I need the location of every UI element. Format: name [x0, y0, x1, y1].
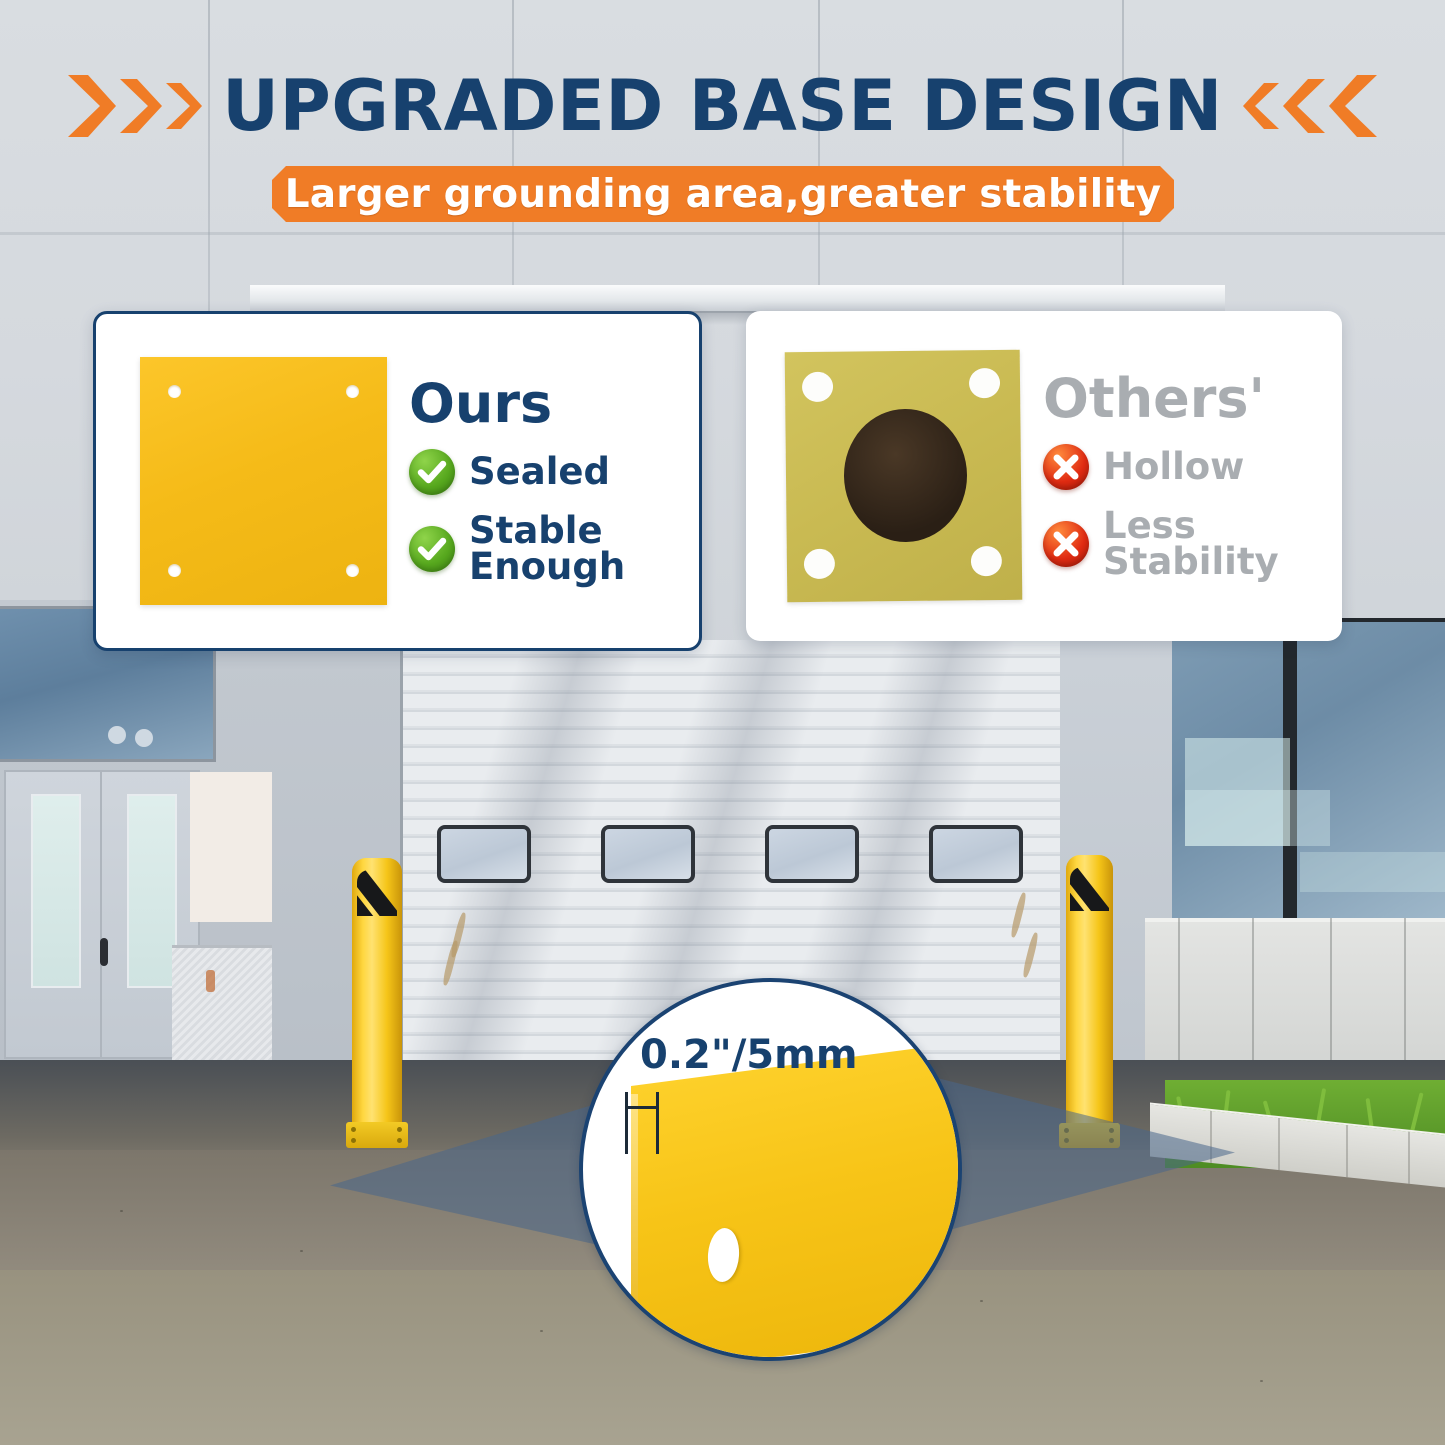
right-chevron-group	[1241, 73, 1379, 139]
ours-feature-2-label: Stable Enough	[469, 513, 625, 586]
ground-speck	[540, 1330, 543, 1332]
left-chevron-group	[66, 73, 204, 139]
ground-speck	[120, 1210, 123, 1212]
bolt-hole	[168, 385, 181, 398]
glass-reflection	[1185, 790, 1330, 846]
others-title: Others'	[1043, 372, 1342, 426]
door-lintel	[250, 285, 1225, 313]
bolt-hole	[966, 365, 1004, 402]
exterior-lamp-icon	[108, 726, 126, 744]
curb-seam	[1408, 1132, 1410, 1184]
ours-plate-figure	[96, 357, 387, 605]
sealed-base-plate-image	[140, 357, 387, 605]
plinth-joint	[1252, 918, 1254, 1063]
plinth-joint	[1178, 918, 1180, 1063]
door-glass	[127, 794, 177, 988]
hollow-base-plate-image	[785, 350, 1023, 602]
comparison-card-ours: Ours Sealed Stable Enough	[93, 311, 702, 651]
curb-seam	[1346, 1125, 1348, 1177]
wall-panel	[190, 772, 272, 922]
door-glass	[31, 794, 81, 988]
product-infographic: UPGRADED BASE DESIGN Larger grounding ar…	[0, 0, 1445, 1445]
plinth-joint	[1404, 918, 1406, 1063]
others-plate-figure	[746, 351, 1021, 601]
bolt-hole	[346, 385, 359, 398]
comparison-card-others: Others' Hollow Less Stability	[746, 311, 1342, 641]
concrete-plinth	[1145, 918, 1445, 1067]
plinth-joint	[1330, 918, 1332, 1063]
others-feature-2: Less Stability	[1043, 508, 1342, 581]
others-feature-2-line1: Less	[1103, 508, 1279, 544]
thickness-label: 0.2"/5mm	[640, 1032, 858, 1078]
subtitle-text: Larger grounding area,greater stability	[285, 172, 1162, 217]
others-feature-1: Hollow	[1043, 444, 1342, 490]
rust-mark	[206, 970, 215, 992]
others-feature-2-label: Less Stability	[1103, 508, 1279, 581]
bollard-base-plate	[346, 1122, 408, 1148]
center-bore-hole	[843, 408, 967, 542]
caliper-bracket-icon	[625, 1092, 659, 1154]
hazard-stripe-icon	[1070, 867, 1109, 911]
headline-row: UPGRADED BASE DESIGN	[0, 62, 1445, 150]
ours-feature-2-line1: Stable	[469, 513, 625, 549]
hazard-stripe-icon	[357, 870, 397, 916]
ground-speck	[980, 1300, 983, 1302]
ours-feature-1-label: Sealed	[469, 454, 610, 490]
x-circle-icon	[1043, 521, 1089, 567]
check-circle-icon	[409, 526, 455, 572]
ours-card-body: Ours Sealed Stable Enough	[387, 377, 699, 586]
exterior-lamp-icon	[135, 729, 153, 747]
bolt-hole	[346, 564, 359, 577]
door-window	[765, 825, 859, 883]
bolt-hole	[799, 368, 837, 405]
wall-band	[0, 232, 1445, 235]
office-door-left	[4, 770, 104, 1059]
magnified-plate-surface	[631, 1041, 962, 1361]
ground-speck	[1260, 1380, 1263, 1382]
subtitle-banner: Larger grounding area,greater stability	[272, 166, 1174, 222]
chevron-left-icon	[1281, 77, 1327, 135]
chevron-right-icon	[164, 81, 204, 131]
page-title: UPGRADED BASE DESIGN	[222, 65, 1223, 147]
others-feature-1-label: Hollow	[1103, 449, 1244, 485]
ours-feature-2-line2: Enough	[469, 549, 625, 585]
bolt-hole	[168, 564, 181, 577]
ours-feature-2: Stable Enough	[409, 513, 699, 586]
door-handle	[100, 938, 108, 966]
door-stain	[1022, 932, 1040, 978]
others-card-body: Others' Hollow Less Stability	[1021, 372, 1342, 581]
others-feature-2-line2: Stability	[1103, 544, 1279, 580]
glass-reflection	[1300, 852, 1445, 892]
ground-speck	[300, 1250, 303, 1252]
check-circle-icon	[409, 449, 455, 495]
chevron-right-icon	[118, 77, 164, 135]
chevron-left-icon	[1241, 81, 1281, 131]
curb-seam	[1278, 1118, 1280, 1170]
safety-bollard-left	[352, 858, 402, 1150]
safety-bollard-right	[1066, 855, 1113, 1150]
chevron-right-icon	[66, 73, 118, 139]
thickness-magnifier: 0.2"/5mm	[579, 978, 962, 1361]
door-window	[601, 825, 695, 883]
bolt-hole	[801, 545, 839, 582]
chevron-left-icon	[1327, 73, 1379, 139]
ours-title: Ours	[409, 377, 699, 431]
bolt-hole	[968, 543, 1006, 580]
door-stain	[1010, 892, 1028, 938]
ours-feature-1: Sealed	[409, 449, 699, 495]
door-window	[929, 825, 1023, 883]
door-window	[437, 825, 531, 883]
x-circle-icon	[1043, 444, 1089, 490]
